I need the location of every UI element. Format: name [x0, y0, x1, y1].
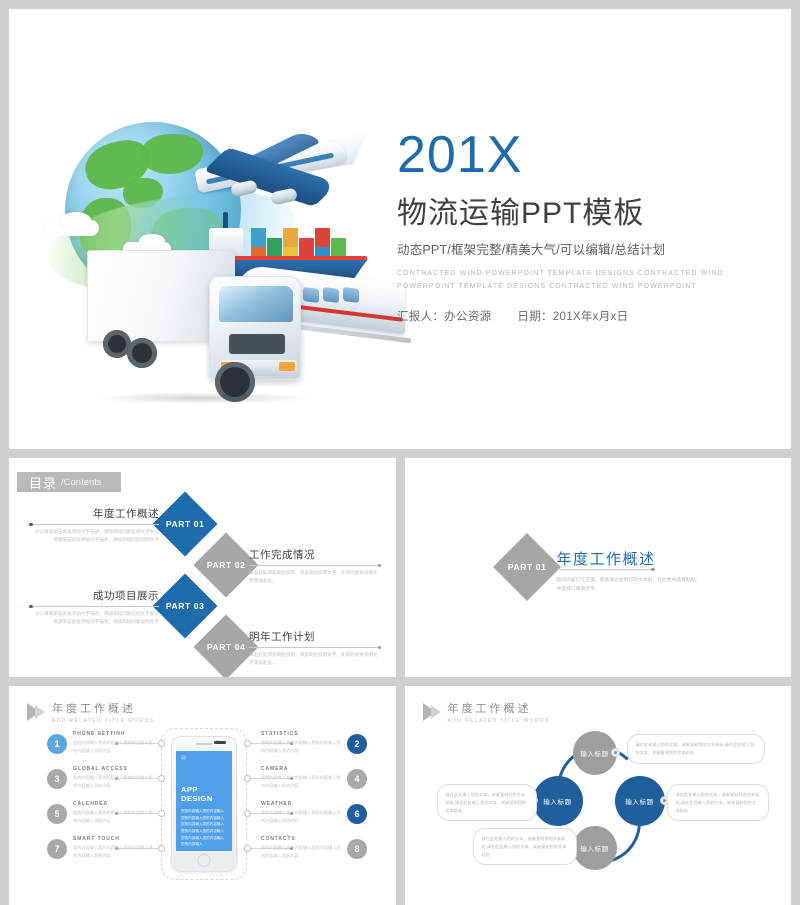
- title-english-caption: CONTRACTED WIND POWERPOINT TEMPLATE DESI…: [397, 268, 749, 294]
- cloud-icon: [61, 212, 91, 228]
- feature-desc: 您的内容输入您的内容输入您的内容输入您的内容输入您的内容: [73, 774, 155, 789]
- app-glyph-icon: ▤: [181, 755, 227, 761]
- home-button[interactable]: [198, 854, 211, 867]
- contents-item-rule: [249, 647, 379, 648]
- cycle-desc-bottom: 请在此处输入您的文本，或者复制您的文本粘贴,请在此处输入您的文本，或者复制您的文…: [473, 828, 577, 865]
- feature-number-3: 3: [47, 769, 67, 789]
- feature-item-4[interactable]: CAMERA 您的内容输入您的内容输入您的内容输入您的内容输入您的内容: [261, 766, 343, 789]
- contents-header-cn: 目录: [29, 473, 57, 492]
- feature-item-1[interactable]: PHONE SETTINH 您的内容输入您的内容输入您的内容输入您的内容输入您的…: [73, 731, 155, 754]
- connector-node: [158, 740, 165, 747]
- connector-node: [244, 775, 251, 782]
- title-subtitle: 动态PPT/框架完整/精美大气/可以编辑/总结计划: [397, 239, 777, 258]
- feature-desc: 您的内容输入您的内容输入您的内容输入您的内容输入您的内容: [261, 844, 343, 859]
- feature-item-5[interactable]: CALENDER 您的内容输入您的内容输入您的内容输入您的内容输入您的内容: [73, 801, 155, 824]
- contents-diamond-part-01[interactable]: PART 01: [152, 491, 217, 556]
- feature-desc: 您的内容输入您的内容输入您的内容输入您的内容输入您的内容: [73, 844, 155, 859]
- airplane-icon: [167, 132, 357, 222]
- slide-header-cn: 年度工作概述: [448, 700, 550, 716]
- connector-node: [158, 845, 165, 852]
- section-desc: 您的内容打在这里，或者通过复制您的文本后，在此框中选择粘贴，并选择只保留文字。: [557, 576, 702, 594]
- slide-header: 年度工作概述 ADD RELATED TITLE WORDS: [27, 700, 154, 724]
- contents-item-title: 年度工作概述: [31, 506, 159, 521]
- feature-item-7[interactable]: SMART TOUCH 您的内容输入您的内容输入您的内容输入您的内容输入您的内容: [73, 836, 155, 859]
- feature-label: CAMERA: [261, 766, 343, 772]
- feature-item-3[interactable]: GLOBAL ACCESS 您的内容输入您的内容输入您的内容输入您的内容输入您的…: [73, 766, 155, 789]
- slide-header-en: ADD RELATED TITLE WORDS: [52, 718, 154, 724]
- slide-cycle-diagram[interactable]: 年度工作概述 ADD RELATED TITLE WORDS 输入标题 输入标题…: [405, 686, 792, 905]
- logistics-artwork: [27, 114, 397, 414]
- contents-item-1[interactable]: 年度工作概述 办公资源单击此处添加文字描述，添加简短问题说明文字办公资源单击此处…: [31, 506, 159, 544]
- cycle-desc-right: 请在此处输入您的文本，或者复制您的文本粘贴,请在此处输入您的文本，或者复制您的文…: [667, 784, 769, 821]
- feature-number-1: 1: [47, 734, 67, 754]
- section-rule: [557, 569, 653, 570]
- speaker-icon: [196, 743, 212, 745]
- contents-item-3[interactable]: 成功项目展示 办公资源单击此处添加文字描述，添加简短问题说明文字办公资源单击此处…: [31, 588, 159, 626]
- feature-number-8: 8: [347, 839, 367, 859]
- battery-icon: [214, 741, 226, 744]
- connector-node: [158, 810, 165, 817]
- year-heading: 201X: [397, 129, 777, 182]
- slide-row-2: 目录 /Contents PART 01 PART 02 PART 03 PAR…: [9, 458, 800, 677]
- feature-item-2[interactable]: STATISTICS 您的内容输入您的内容输入您的内容输入您的内容输入您的内容: [261, 731, 343, 754]
- contents-item-rule: [31, 524, 159, 525]
- slide-app-design[interactable]: 年度工作概述 ADD RELATED TITLE WORDS ▤ APP DES…: [9, 686, 396, 905]
- slide-row-3: 年度工作概述 ADD RELATED TITLE WORDS ▤ APP DES…: [9, 686, 800, 905]
- feature-item-6[interactable]: WEATHER 您的内容输入您的内容输入您的内容输入您的内容输入您的内容: [261, 801, 343, 824]
- contents-item-2[interactable]: 工作完成情况 单击此处添加简短说明，添加简短说明文字，此项的具体说明文字添加此处…: [249, 547, 379, 585]
- slide-title-page[interactable]: 201X 物流运输PPT模板 动态PPT/框架完整/精美大气/可以编辑/总结计划…: [9, 9, 791, 449]
- feature-desc: 您的内容输入您的内容输入您的内容输入您的内容输入您的内容: [73, 809, 155, 824]
- contents-item-desc: 单击此处添加简短说明，添加简短说明文字，此项的具体说明文字添加此处。: [249, 651, 379, 667]
- chevron-right-icon: [27, 703, 47, 721]
- section-part-label: PART 01: [507, 562, 546, 572]
- connector-node: [244, 810, 251, 817]
- title-text-block: 201X 物流运输PPT模板 动态PPT/框架完整/精美大气/可以编辑/总结计划…: [397, 129, 777, 324]
- app-name: APP DESIGN: [181, 785, 227, 803]
- contents-item-desc: 办公资源单击此处添加文字描述，添加简短问题说明文字办公资源单击此处添加文字描述，…: [31, 528, 159, 544]
- contents-item-title: 工作完成情况: [249, 547, 379, 562]
- column-gutter: [396, 686, 405, 905]
- reporter-label: 汇报人：办公资源: [397, 311, 491, 323]
- slide-header: 年度工作概述 ADD RELATED TITLE WORDS: [423, 700, 550, 724]
- feature-label: SMART TOUCH: [73, 836, 155, 842]
- cycle-knob-top: [611, 748, 620, 757]
- row-gutter: [0, 449, 800, 458]
- slide-header-en: ADD RELATED TITLE WORDS: [448, 718, 550, 724]
- slide-contents[interactable]: 目录 /Contents PART 01 PART 02 PART 03 PAR…: [9, 458, 396, 677]
- contents-item-rule: [249, 565, 379, 566]
- chevron-right-icon: [423, 703, 443, 721]
- column-gutter: [396, 458, 405, 677]
- feature-desc: 您的内容输入您的内容输入您的内容输入您的内容输入您的内容: [73, 739, 155, 754]
- feature-label: PHONE SETTINH: [73, 731, 155, 737]
- connector-node: [244, 845, 251, 852]
- app-body-text: 您的内容输入您的内容输入您的内容输入您的内容输入您的内容输入您的内容输入您的内容…: [181, 808, 227, 848]
- feature-desc: 您的内容输入您的内容输入您的内容输入您的内容输入您的内容: [261, 739, 343, 754]
- contents-item-rule: [31, 606, 159, 607]
- feature-number-2: 2: [347, 734, 367, 754]
- title-meta: 汇报人：办公资源日期：201X年x月x日: [397, 308, 777, 324]
- cycle-node-left[interactable]: 输入标题: [533, 776, 583, 826]
- feature-number-5: 5: [47, 804, 67, 824]
- phone-screen: ▤ APP DESIGN 您的内容输入您的内容输入您的内容输入您的内容输入您的内…: [176, 751, 232, 851]
- cycle-node-bottom[interactable]: 输入标题: [573, 826, 617, 870]
- feature-label: GLOBAL ACCESS: [73, 766, 155, 772]
- contents-header-en: /Contents: [61, 477, 102, 488]
- feature-desc: 您的内容输入您的内容输入您的内容输入您的内容输入您的内容: [261, 809, 343, 824]
- feature-desc: 您的内容输入您的内容输入您的内容输入您的内容输入您的内容: [261, 774, 343, 789]
- cycle-desc-left: 请在此处输入您的文本，或者复制您的文本粘贴,请在此处输入您的文本，或者复制您的文…: [437, 784, 537, 821]
- feature-number-6: 6: [347, 804, 367, 824]
- cargo-truck-icon: [87, 242, 317, 412]
- feature-label: WEATHER: [261, 801, 343, 807]
- connector-node: [158, 775, 165, 782]
- contents-diamond-part-03[interactable]: PART 03: [152, 573, 217, 638]
- feature-label: CALENDER: [73, 801, 155, 807]
- page-title: 物流运输PPT模板: [397, 188, 777, 232]
- contents-item-4[interactable]: 明年工作计划 单击此处添加简短说明，添加简短说明文字，此项的具体说明文字添加此处…: [249, 629, 379, 667]
- contents-item-desc: 单击此处添加简短说明，添加简短说明文字，此项的具体说明文字添加此处。: [249, 569, 379, 585]
- contents-item-title: 成功项目展示: [31, 588, 159, 603]
- cycle-node-top[interactable]: 输入标题: [573, 731, 617, 775]
- date-label: 日期：201X年x月x日: [517, 311, 628, 323]
- feature-item-8[interactable]: CONTACTS 您的内容输入您的内容输入您的内容输入您的内容输入您的内容: [261, 836, 343, 859]
- contents-item-title: 明年工作计划: [249, 629, 379, 644]
- feature-label: STATISTICS: [261, 731, 343, 737]
- cycle-desc-top: 请在此处输入您的文本，或者复制您的文本粘贴,请在此处输入您的文本，或者复制您的文…: [627, 734, 765, 764]
- section-title: 年度工作概述: [557, 548, 656, 569]
- slide-deck: 201X 物流运输PPT模板 动态PPT/框架完整/精美大气/可以编辑/总结计划…: [0, 0, 800, 905]
- slide-header-cn: 年度工作概述: [52, 700, 154, 716]
- connector-node: [244, 740, 251, 747]
- cycle-node-right[interactable]: 输入标题: [615, 776, 665, 826]
- row-gutter: [0, 677, 800, 686]
- feature-number-7: 7: [47, 839, 67, 859]
- contents-item-desc: 办公资源单击此处添加文字描述，添加简短问题说明文字办公资源单击此处添加文字描述，…: [31, 610, 159, 626]
- section-diamond-part-01[interactable]: PART 01: [493, 533, 561, 601]
- contents-header: 目录 /Contents: [17, 472, 121, 492]
- slide-section-part-01[interactable]: PART 01 年度工作概述 您的内容打在这里，或者通过复制您的文本后，在此框中…: [405, 458, 792, 677]
- phone-mockup: ▤ APP DESIGN 您的内容输入您的内容输入您的内容输入您的内容输入您的内…: [171, 736, 237, 872]
- feature-number-4: 4: [347, 769, 367, 789]
- feature-label: CONTACTS: [261, 836, 343, 842]
